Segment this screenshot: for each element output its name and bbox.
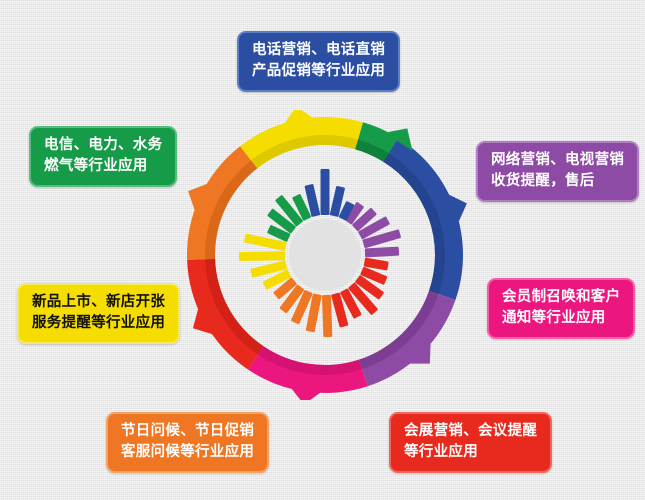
label-new-product-store[interactable]: 新品上市、新店开张 服务提醒等行业应用	[17, 283, 180, 344]
donut-wheel	[180, 110, 470, 400]
infographic-canvas: 电话营销、电话直销 产品促销等行业应用 网络营销、电视营销 收货提醒，售后 会员…	[0, 0, 645, 500]
label-membership-notice[interactable]: 会员制召唤和客户 通知等行业应用	[487, 278, 635, 339]
label-line-2: 收货提醒，售后	[491, 171, 624, 192]
label-line-1: 会员制召唤和客户	[502, 287, 620, 308]
label-line-2: 燃气等行业应用	[44, 156, 162, 177]
label-holiday-greeting[interactable]: 节日问候、节日促销 客服问候等行业应用	[106, 412, 269, 473]
burst-bar	[322, 295, 332, 337]
label-line-1: 电信、电力、水务	[44, 135, 162, 156]
donut-wheel-svg	[180, 110, 470, 400]
label-line-2: 等行业应用	[404, 442, 537, 463]
label-line-2: 通知等行业应用	[502, 308, 620, 329]
label-line-1: 网络营销、电视营销	[491, 150, 624, 171]
burst-bar	[321, 169, 330, 215]
label-network-tv-marketing[interactable]: 网络营销、电视营销 收货提醒，售后	[476, 141, 639, 202]
label-line-1: 新品上市、新店开张	[32, 292, 165, 313]
wheel-hub	[289, 219, 361, 291]
label-line-2: 客服问候等行业应用	[121, 442, 254, 463]
label-line-2: 产品促销等行业应用	[252, 61, 385, 82]
burst-bar	[365, 247, 399, 258]
burst-bar	[239, 251, 285, 261]
label-telemarketing[interactable]: 电话营销、电话直销 产品促销等行业应用	[237, 31, 400, 92]
label-exhibition-meeting[interactable]: 会展营销、会议提醒 等行业应用	[389, 412, 552, 473]
label-line-1: 节日问候、节日促销	[121, 421, 254, 442]
label-line-2: 服务提醒等行业应用	[32, 313, 165, 334]
label-utilities[interactable]: 电信、电力、水务 燃气等行业应用	[29, 126, 177, 187]
label-line-1: 电话营销、电话直销	[252, 40, 385, 61]
label-line-1: 会展营销、会议提醒	[404, 421, 537, 442]
